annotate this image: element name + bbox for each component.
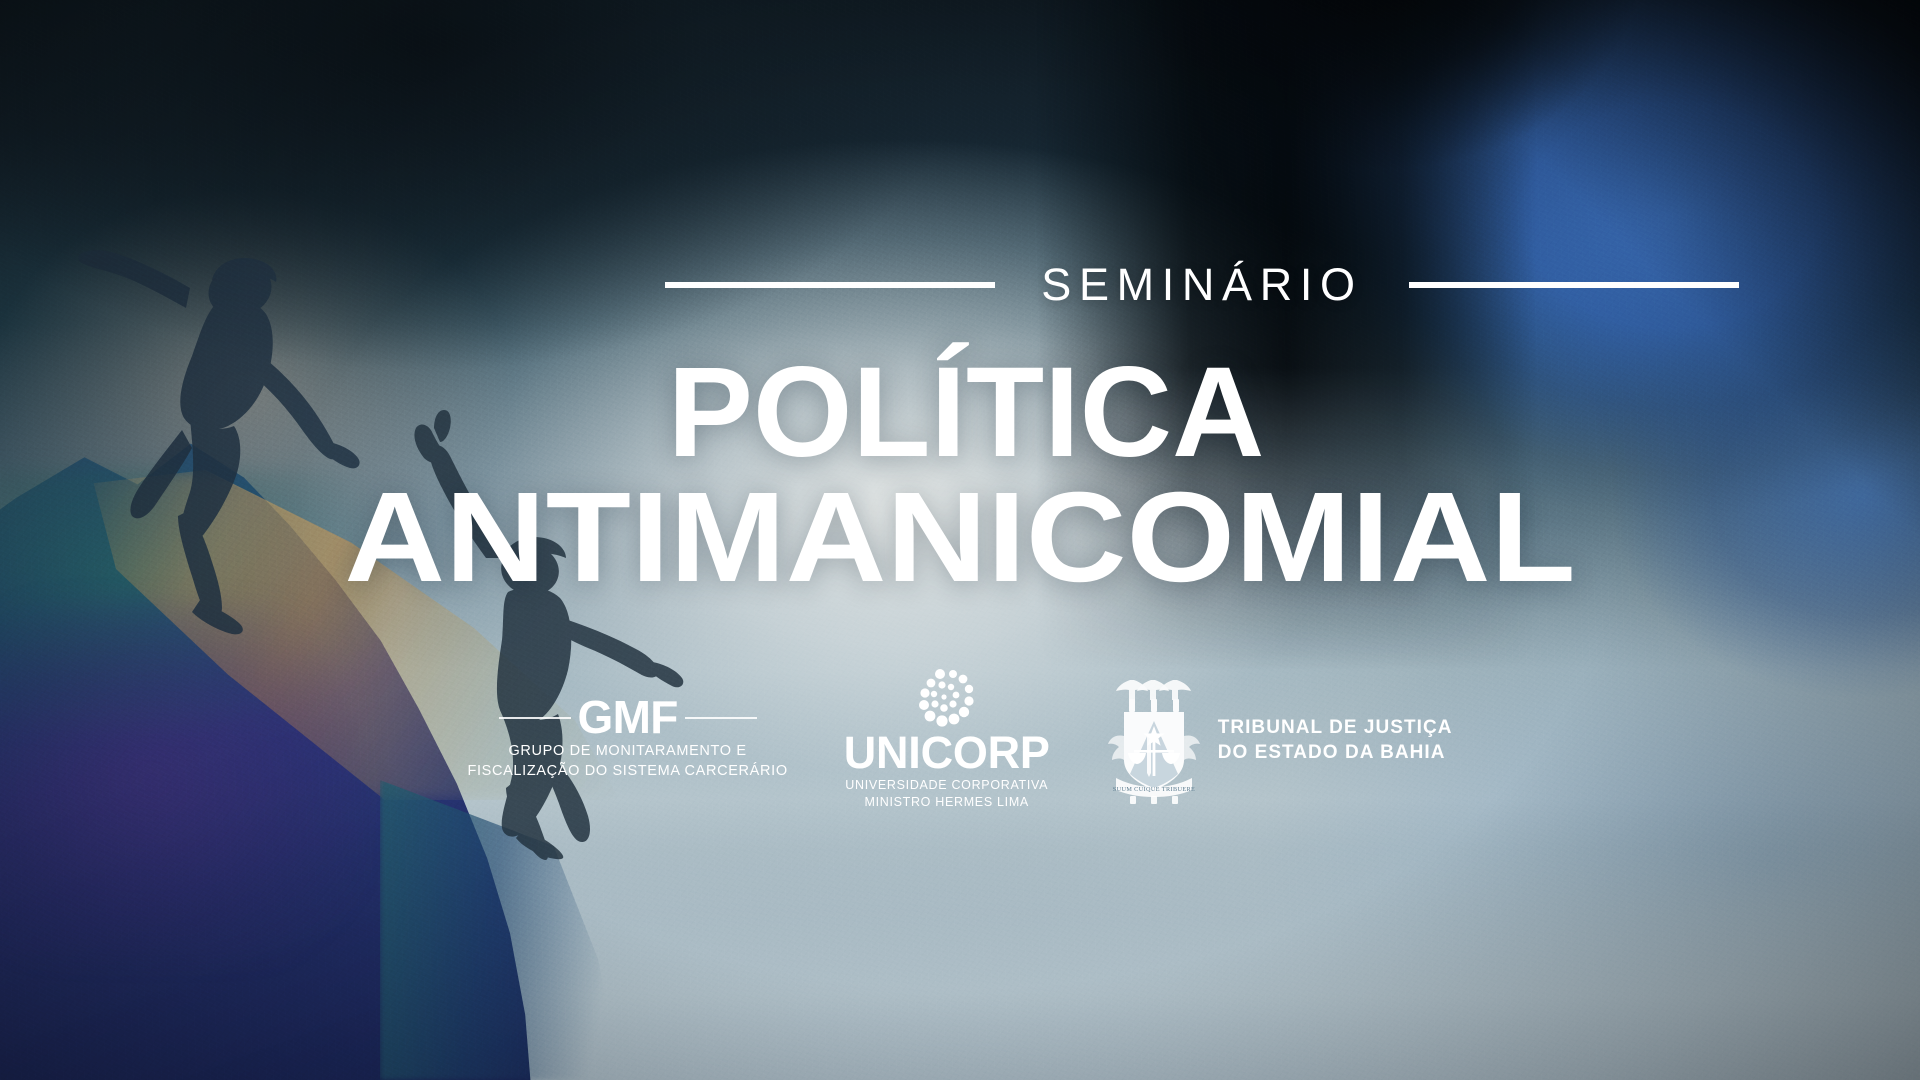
kicker-row: SEMINÁRIO [640, 262, 1764, 307]
tjba-text-line-2: DO ESTADO DA BAHIA [1218, 740, 1453, 765]
gmf-rule-left [499, 717, 571, 719]
unicorp-subtitle-line-2: MINISTRO HERMES LIMA [845, 794, 1048, 812]
logo-gmf: GMF GRUPO DE MONITARAMENTO E FISCALIZAÇÃ… [467, 699, 787, 782]
title-line-2: ANTIMANICOMIAL [0, 477, 1920, 600]
page-title: POLÍTICA ANTIMANICOMIAL [0, 352, 1920, 600]
gmf-wordmark: GMF [578, 699, 678, 737]
tjba-text: TRIBUNAL DE JUSTIÇA DO ESTADO DA BAHIA [1218, 715, 1453, 765]
spiral-dots-icon [916, 668, 978, 730]
unicorp-subtitle-line-1: UNIVERSIDADE CORPORATIVA [845, 777, 1048, 795]
logo-unicorp: UNICORP UNIVERSIDADE CORPORATIVA MINISTR… [844, 668, 1050, 812]
bahia-coat-of-arms-icon: SUUM CUIQUE TRIBUERE [1106, 674, 1202, 806]
gmf-rule-right [685, 717, 757, 719]
kicker-rule-right [1409, 282, 1739, 288]
title-line-1: POLÍTICA [0, 352, 1920, 475]
logo-tjba: SUUM CUIQUE TRIBUERE TRIBUNAL DE JUSTIÇA… [1106, 674, 1453, 806]
kicker-rule-left [665, 282, 995, 288]
tjba-text-line-1: TRIBUNAL DE JUSTIÇA [1218, 715, 1453, 740]
gmf-mark-row: GMF [499, 699, 757, 737]
kicker-label: SEMINÁRIO [1041, 262, 1362, 307]
unicorp-wordmark: UNICORP [844, 733, 1050, 773]
gmf-subtitle: GRUPO DE MONITARAMENTO E FISCALIZAÇÃO DO… [467, 741, 787, 781]
unicorp-subtitle: UNIVERSIDADE CORPORATIVA MINISTRO HERMES… [845, 777, 1048, 813]
logo-row: GMF GRUPO DE MONITARAMENTO E FISCALIZAÇÃ… [0, 668, 1920, 812]
gmf-subtitle-line-1: GRUPO DE MONITARAMENTO E [467, 741, 787, 761]
gmf-subtitle-line-2: FISCALIZAÇÃO DO SISTEMA CARCERÁRIO [467, 761, 787, 781]
poster-canvas: SEMINÁRIO POLÍTICA ANTIMANICOMIAL GMF GR… [0, 0, 1920, 1080]
poster-content: SEMINÁRIO POLÍTICA ANTIMANICOMIAL GMF GR… [0, 0, 1920, 1080]
crest-motto: SUUM CUIQUE TRIBUERE [1112, 786, 1194, 793]
